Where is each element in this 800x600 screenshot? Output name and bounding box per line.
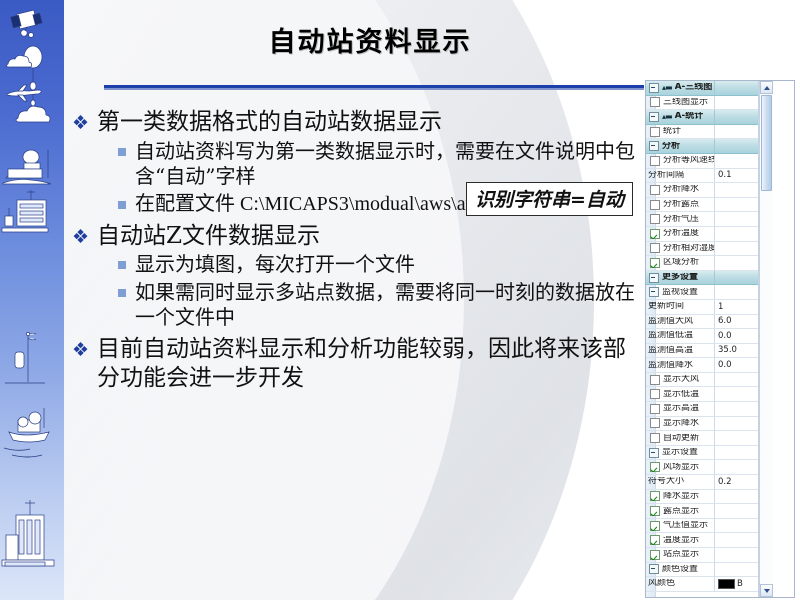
bullet-text: 目前自动站资料显示和分析功能较弱，因此将来该部分功能会进一步开发 <box>97 335 647 393</box>
property-label: 更新时间 <box>648 302 684 311</box>
category-marker-icon: ▴▬ <box>662 112 672 121</box>
property-label: 区域分析 <box>663 258 699 267</box>
collapse-expander-icon[interactable] <box>649 448 659 458</box>
callout-box: 识别字符串=自动 <box>466 182 633 216</box>
property-label-cell: 气压值显示 <box>646 521 714 531</box>
property-label: 自动更新 <box>663 434 699 443</box>
checkbox-checked-icon[interactable] <box>650 491 660 501</box>
property-value-cell[interactable] <box>714 417 758 431</box>
property-value: 1 <box>718 302 723 312</box>
property-value-cell[interactable]: 0.0 <box>714 329 758 343</box>
scroll-down-arrow-icon[interactable] <box>760 584 773 597</box>
property-label-cell: 符号大小 <box>646 477 714 486</box>
checkbox-checked-icon[interactable] <box>650 229 660 239</box>
bullet-text: 自动站Z文件数据显示 <box>97 222 647 251</box>
property-row[interactable]: 显示设置 <box>646 446 758 461</box>
property-value-cell[interactable] <box>714 125 758 139</box>
property-row[interactable]: 气压值显示 <box>646 519 758 534</box>
property-label-cell: 监测值降水 <box>646 361 714 370</box>
property-label: 颜色设置 <box>662 565 698 574</box>
property-label: 监测值低温 <box>648 331 693 340</box>
property-value-cell[interactable] <box>714 285 758 299</box>
property-label: A-统计 <box>675 112 704 121</box>
property-label-cell: 自动更新 <box>646 433 714 443</box>
property-label-cell: 三线图显示 <box>646 97 714 107</box>
checkbox-unchecked-icon[interactable] <box>650 185 660 195</box>
property-value-cell[interactable] <box>714 504 758 518</box>
property-label: 分析降水 <box>663 185 699 194</box>
property-label-cell: ▴▬A-统计 <box>646 112 714 122</box>
property-value-cell[interactable]: 0.1 <box>714 169 758 183</box>
property-group-header[interactable]: ▴▬A-统计 <box>646 110 758 125</box>
property-value-cell[interactable] <box>714 373 758 387</box>
bullet-list: ❖ 第一类数据格式的自动站数据显示 自动站资料写为第一类数据显示时，需要在文件说… <box>72 104 647 395</box>
checkbox-unchecked-icon[interactable] <box>650 389 660 399</box>
checkbox-checked-icon[interactable] <box>650 506 660 516</box>
property-label: 显示降水 <box>663 419 699 428</box>
property-value-cell[interactable] <box>714 154 758 168</box>
property-label: 符号大小 <box>648 477 684 486</box>
office-building-icon <box>2 500 54 566</box>
checkbox-unchecked-icon[interactable] <box>650 375 660 385</box>
property-row[interactable]: 风颜色B <box>646 577 758 592</box>
property-label: 监测值大风 <box>648 317 693 326</box>
meteorology-illustrations <box>0 0 64 600</box>
anemometer-icon <box>5 332 45 383</box>
collapse-expander-icon[interactable] <box>649 141 659 151</box>
property-label-cell: 露点显示 <box>646 506 714 516</box>
color-swatch[interactable] <box>718 579 735 589</box>
property-group-header[interactable]: 分析 <box>646 139 758 154</box>
property-row[interactable]: 分析露点 <box>646 198 758 213</box>
property-value-cell[interactable]: 0.0 <box>714 358 758 372</box>
checkbox-checked-icon[interactable] <box>650 535 660 545</box>
property-row[interactable]: 风场显示 <box>646 460 758 475</box>
property-row[interactable]: 显示大风 <box>646 373 758 388</box>
property-row[interactable]: 分析等风速线 <box>646 154 758 169</box>
weather-balloon-icon <box>24 46 42 106</box>
property-value: 0.2 <box>718 477 732 487</box>
property-value: 0.0 <box>718 331 732 341</box>
property-value-cell[interactable] <box>714 533 758 547</box>
property-label: 站点显示 <box>663 550 699 559</box>
property-value-cell[interactable] <box>714 387 758 401</box>
property-row[interactable]: 站点显示 <box>646 548 758 563</box>
property-value-cell[interactable] <box>714 212 758 226</box>
category-marker-icon: ▴▬ <box>662 83 672 92</box>
checkbox-checked-icon[interactable] <box>650 258 660 268</box>
property-label: 分析相对湿度 <box>663 244 714 253</box>
property-value: 35.0 <box>718 345 737 355</box>
property-value-cell[interactable] <box>714 548 758 562</box>
property-value: 6.0 <box>718 316 732 326</box>
property-label-cell: 分析相对湿度 <box>646 243 714 253</box>
checkbox-unchecked-icon[interactable] <box>650 433 660 443</box>
property-label-cell: 分析 <box>646 141 714 151</box>
property-label-cell: 显示大风 <box>646 375 714 385</box>
property-value-cell[interactable]: 0.2 <box>714 475 758 489</box>
collapse-expander-icon[interactable] <box>649 273 659 283</box>
page-title: 自动站资料显示 <box>90 20 650 59</box>
property-label: 风颜色 <box>648 579 675 588</box>
property-value-cell[interactable] <box>714 446 758 460</box>
property-row[interactable]: 降水显示 <box>646 490 758 505</box>
property-value-cell[interactable] <box>714 81 758 95</box>
property-label-cell: 降水显示 <box>646 491 714 501</box>
diamond-bullet-icon: ❖ <box>72 338 89 363</box>
property-label-cell: 风场显示 <box>646 462 714 472</box>
property-label: 分析等风速线 <box>663 156 714 165</box>
property-value-cell[interactable] <box>714 563 758 577</box>
property-label-cell: 分析温度 <box>646 229 714 239</box>
property-value-cell[interactable] <box>714 139 758 153</box>
property-label-cell: 显示降水 <box>646 418 714 428</box>
observatory-building-icon <box>2 190 48 232</box>
property-label-cell: 监测值大风 <box>646 317 714 326</box>
bullet-level1: ❖ 第一类数据格式的自动站数据显示 <box>72 108 647 137</box>
collapse-expander-icon[interactable] <box>649 564 659 574</box>
property-label: 显示设置 <box>662 448 698 457</box>
property-grid-panel[interactable]: ▴▬A-三线图三线图显示▴▬A-统计统计分析分析等风速线分析间隔0.1分析降水分… <box>645 80 795 598</box>
property-value: 0.0 <box>718 360 732 370</box>
property-label: 露点显示 <box>663 507 699 516</box>
bullet-level1: ❖ 自动站Z文件数据显示 <box>72 222 647 251</box>
property-row[interactable]: 区域分析 <box>646 256 758 271</box>
property-value-cell[interactable] <box>714 242 758 256</box>
checkbox-unchecked-icon[interactable] <box>650 243 660 253</box>
property-label-cell: 分析气压 <box>646 214 714 224</box>
property-label-cell: 站点显示 <box>646 550 714 560</box>
checkbox-checked-icon[interactable] <box>650 550 660 560</box>
property-value-cell[interactable] <box>714 96 758 110</box>
property-row[interactable]: 显示低温 <box>646 387 758 402</box>
property-label: 温度显示 <box>663 536 699 545</box>
collapse-expander-icon[interactable] <box>649 112 659 122</box>
property-row[interactable]: 监视设置 <box>646 285 758 300</box>
checkbox-unchecked-icon[interactable] <box>650 214 660 224</box>
property-label: 监测值高温 <box>648 346 693 355</box>
property-value-cell[interactable] <box>714 460 758 474</box>
property-label-cell: 风颜色 <box>646 579 714 588</box>
property-row[interactable]: 符号大小0.2 <box>646 475 758 490</box>
property-label-cell: 显示设置 <box>646 448 714 458</box>
property-value-cell[interactable] <box>714 271 758 285</box>
property-label: 风场显示 <box>663 463 699 472</box>
property-value-cell[interactable]: 6.0 <box>714 315 758 329</box>
property-row[interactable]: 显示降水 <box>646 417 758 432</box>
radar-station-icon <box>3 150 51 184</box>
property-row[interactable]: 更新时间1 <box>646 300 758 315</box>
property-value: B <box>737 579 743 589</box>
property-grid-rows: ▴▬A-三线图三线图显示▴▬A-统计统计分析分析等风速线分析间隔0.1分析降水分… <box>646 81 758 592</box>
property-row[interactable]: 三线图显示 <box>646 96 758 111</box>
property-row[interactable]: 统计 <box>646 125 758 140</box>
checkbox-unchecked-icon[interactable] <box>650 200 660 210</box>
property-label: 显示低温 <box>663 390 699 399</box>
scroll-up-arrow-icon[interactable] <box>760 81 773 94</box>
property-row[interactable]: 分析降水 <box>646 183 758 198</box>
satellite-icon <box>11 10 42 37</box>
property-label-cell: 监测值高温 <box>646 346 714 355</box>
property-value-cell[interactable] <box>714 183 758 197</box>
property-row[interactable]: 分析温度 <box>646 227 758 242</box>
property-label: 分析露点 <box>663 200 699 209</box>
property-row[interactable]: 自动更新 <box>646 431 758 446</box>
property-label-cell: 区域分析 <box>646 258 714 268</box>
scrollbar-thumb[interactable] <box>761 95 772 191</box>
property-row[interactable]: 显示高温 <box>646 402 758 417</box>
property-label: 分析 <box>662 142 680 151</box>
property-label: 监视设置 <box>662 288 698 297</box>
property-value-cell[interactable]: 1 <box>714 300 758 314</box>
bullet-level1: ❖ 目前自动站资料显示和分析功能较弱，因此将来该部分功能会进一步开发 <box>72 335 647 393</box>
property-label: 显示大风 <box>663 375 699 384</box>
property-label: 统计 <box>663 127 681 136</box>
checkbox-unchecked-icon[interactable] <box>650 404 660 414</box>
property-value-cell[interactable] <box>714 110 758 124</box>
square-bullet-icon <box>118 261 126 269</box>
bullet-level2: 显示为填图，每次打开一个文件 <box>118 252 647 278</box>
property-value-cell[interactable] <box>714 431 758 445</box>
bullet-text: 第一类数据格式的自动站数据显示 <box>97 108 647 137</box>
cloud-icon <box>16 106 50 122</box>
property-label: 更多设置 <box>662 273 698 282</box>
property-group-header[interactable]: ▴▬A-三线图 <box>646 81 758 96</box>
panel-scrollbar[interactable] <box>759 81 773 597</box>
property-label: 显示高温 <box>663 404 699 413</box>
slide: 自动站资料显示 ❖ 第一类数据格式的自动站数据显示 自动站资料写为第一类数据显示… <box>0 0 800 600</box>
property-value: 0.1 <box>718 170 732 180</box>
property-label-cell: 分析露点 <box>646 200 714 210</box>
property-label-cell: 更多设置 <box>646 273 714 283</box>
checkbox-checked-icon[interactable] <box>650 521 660 531</box>
property-row[interactable]: 监测值大风6.0 <box>646 315 758 330</box>
property-row[interactable]: 露点显示 <box>646 504 758 519</box>
checkbox-unchecked-icon[interactable] <box>650 127 660 137</box>
property-row[interactable]: 监测值高温35.0 <box>646 344 758 359</box>
property-value-cell[interactable] <box>714 227 758 241</box>
property-label: 分析间隔 <box>648 171 684 180</box>
property-label-cell: 统计 <box>646 127 714 137</box>
property-row[interactable]: 分析间隔0.1 <box>646 169 758 184</box>
property-row[interactable]: 分析相对湿度 <box>646 242 758 257</box>
diamond-bullet-icon: ❖ <box>72 225 89 250</box>
left-decorative-band <box>0 0 64 600</box>
property-row[interactable]: 监测值降水0.0 <box>646 358 758 373</box>
property-label: 分析气压 <box>663 215 699 224</box>
collapse-expander-icon[interactable] <box>649 287 659 297</box>
property-label: 分析温度 <box>663 229 699 238</box>
property-value-cell[interactable] <box>714 198 758 212</box>
property-label: 监测值降水 <box>648 361 693 370</box>
property-label: 降水显示 <box>663 492 699 501</box>
property-label: 三线图显示 <box>663 98 708 107</box>
property-value-cell[interactable]: 35.0 <box>714 344 758 358</box>
checkbox-unchecked-icon[interactable] <box>650 418 660 428</box>
title-underline <box>104 85 644 88</box>
property-row[interactable]: 分析气压 <box>646 212 758 227</box>
bullet-level2: 如果需同时显示多站点数据，需要将同一时刻的数据放在一个文件中 <box>118 280 647 331</box>
property-label-cell: 分析降水 <box>646 185 714 195</box>
square-bullet-icon <box>118 148 126 156</box>
property-label-cell: 监视设置 <box>646 287 714 297</box>
square-bullet-icon <box>118 201 126 209</box>
property-label-cell: 分析等风速线 <box>646 156 714 166</box>
property-label-cell: 监测值低温 <box>646 331 714 340</box>
checkbox-checked-icon[interactable] <box>650 462 660 472</box>
property-label: A-三线图 <box>675 83 713 92</box>
property-group-header[interactable]: 更多设置 <box>646 271 758 286</box>
property-label: 气压值显示 <box>663 521 708 530</box>
property-value-cell[interactable] <box>714 256 758 270</box>
bullet-text: 如果需同时显示多站点数据，需要将同一时刻的数据放在一个文件中 <box>135 280 647 331</box>
property-row[interactable]: 监测值低温0.0 <box>646 329 758 344</box>
property-label-cell: 显示高温 <box>646 404 714 414</box>
collapse-expander-icon[interactable] <box>649 83 659 93</box>
property-label-cell: 温度显示 <box>646 535 714 545</box>
property-value-cell[interactable] <box>714 402 758 416</box>
property-grid[interactable]: ▴▬A-三线图三线图显示▴▬A-统计统计分析分析等风速线分析间隔0.1分析降水分… <box>646 81 759 597</box>
property-label-cell: ▴▬A-三线图 <box>646 83 714 93</box>
property-label-cell: 显示低温 <box>646 389 714 399</box>
square-bullet-icon <box>118 289 126 297</box>
property-label-cell: 颜色设置 <box>646 564 714 574</box>
ship-icon <box>4 408 49 457</box>
property-label-cell: 更新时间 <box>646 302 714 311</box>
checkbox-unchecked-icon[interactable] <box>650 156 660 166</box>
property-value-cell[interactable] <box>714 519 758 533</box>
property-row[interactable]: 温度显示 <box>646 533 758 548</box>
property-value-cell[interactable] <box>714 490 758 504</box>
property-row[interactable]: 颜色设置 <box>646 563 758 578</box>
bullet-text: 显示为填图，每次打开一个文件 <box>135 252 647 278</box>
diamond-bullet-icon: ❖ <box>72 111 89 136</box>
checkbox-unchecked-icon[interactable] <box>650 97 660 107</box>
property-label-cell: 分析间隔 <box>646 171 714 180</box>
property-value-cell[interactable]: B <box>714 577 758 591</box>
